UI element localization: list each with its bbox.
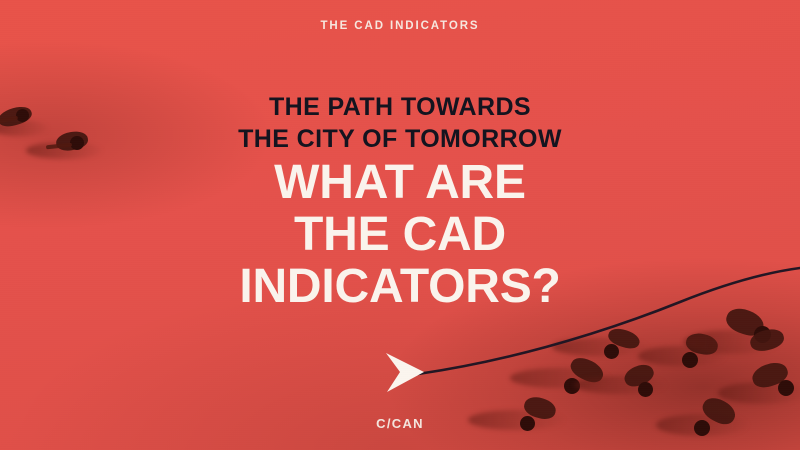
brand-logo: C/CAN: [0, 416, 800, 431]
eyebrow-label: THE CAD INDICATORS: [0, 20, 800, 32]
subtitle-line-1: THE PATH TOWARDS: [0, 92, 800, 124]
headline-line-2: THE CAD: [0, 209, 800, 261]
headline-line-1: WHAT ARE: [0, 157, 800, 209]
headline-line-3: INDICATORS?: [0, 261, 800, 313]
white-arrowhead: [386, 353, 424, 392]
slide-subtitle: THE PATH TOWARDS THE CITY OF TOMORROW: [0, 92, 800, 156]
subtitle-line-2: THE CITY OF TOMORROW: [0, 124, 800, 156]
slide-headline: WHAT ARE THE CAD INDICATORS?: [0, 157, 800, 312]
presentation-slide: THE CAD INDICATORS THE PATH TOWARDS THE …: [0, 0, 800, 450]
